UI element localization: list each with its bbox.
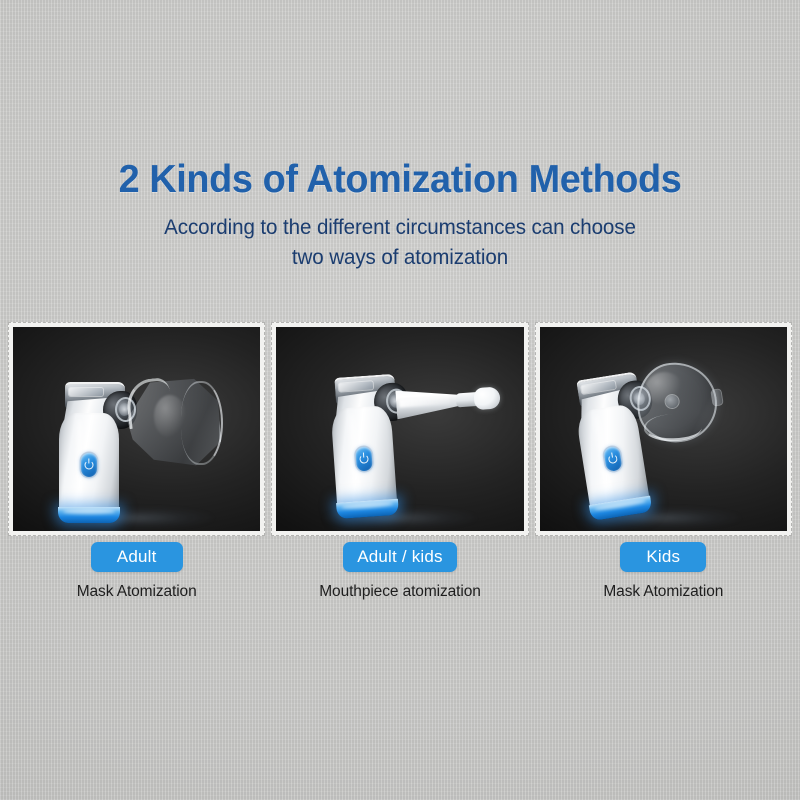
product-photo-panel-mouthpiece[interactable] <box>271 322 528 536</box>
power-stem <box>611 452 613 457</box>
status-badge-adult-kids: Adult / kids <box>343 542 457 572</box>
subtitle-line-1: According to the different circumstances… <box>8 213 792 243</box>
product-photo-adult-mask <box>13 327 260 531</box>
mouthpiece-tip <box>474 386 501 410</box>
caption-adult: Mask Atomization <box>77 583 197 601</box>
kids-face-mask <box>631 357 723 449</box>
cup-lid <box>339 381 374 392</box>
product-photo-kids-mask <box>540 327 787 531</box>
product-photo-panel-kids-mask[interactable] <box>535 322 792 536</box>
label-column-adult: Adult Mask Atomization <box>8 542 265 601</box>
page-title: 2 Kinds of Atomization Methods <box>12 157 788 203</box>
mask-strap-tab <box>711 389 722 405</box>
mouthpiece-attachment <box>396 381 502 420</box>
label-row: Adult Mask Atomization Adult / kids Mout… <box>8 542 792 601</box>
product-photo-panel-adult-mask[interactable] <box>8 322 265 536</box>
power-stem <box>363 453 365 458</box>
status-badge-adult: Adult <box>91 542 183 572</box>
product-photo-mouthpiece <box>276 327 523 531</box>
power-button-icon <box>81 453 97 477</box>
infographic-root: 2 Kinds of Atomization Methods According… <box>0 0 800 800</box>
illuminated-base-ring <box>58 507 120 523</box>
product-photo-row <box>8 322 792 536</box>
cup-lid <box>69 388 104 397</box>
power-button-icon <box>356 447 374 472</box>
mouthpiece-cone <box>396 384 464 421</box>
subtitle-line-2: two ways of atomization <box>8 243 792 273</box>
caption-mouthpiece: Mouthpiece atomization <box>319 583 481 601</box>
power-stem <box>88 459 89 464</box>
caption-kids: Mask Atomization <box>603 583 723 601</box>
heading-block: 2 Kinds of Atomization Methods According… <box>0 157 800 273</box>
status-badge-kids: Kids <box>620 542 706 572</box>
label-column-adult-kids: Adult / kids Mouthpiece atomization <box>271 542 528 601</box>
adult-face-mask <box>125 377 221 469</box>
mask-highlight <box>154 395 187 437</box>
cup-lid <box>580 380 616 394</box>
mask-rim <box>181 381 223 466</box>
label-column-kids: Kids Mask Atomization <box>535 542 792 601</box>
page-subtitle: According to the different circumstances… <box>8 213 792 273</box>
